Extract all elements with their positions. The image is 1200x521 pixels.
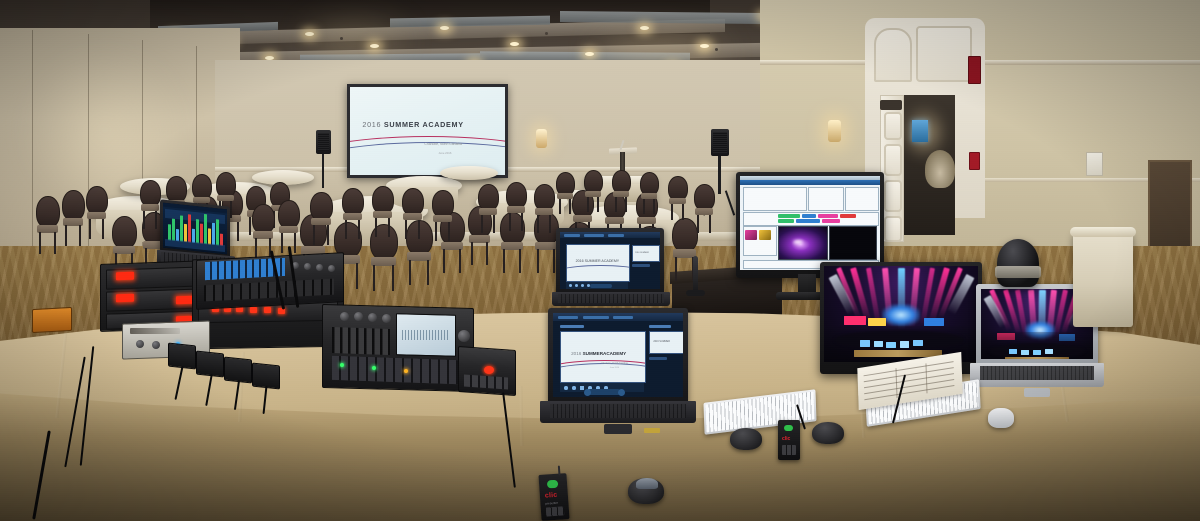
door-leaf-panel-1 [884, 112, 902, 140]
door-transom-panel-left [874, 28, 912, 82]
pp-side-label-2 [649, 357, 667, 360]
chair [478, 184, 499, 211]
chair [506, 182, 527, 209]
mixer-knob[interactable] [304, 263, 311, 270]
pp-menu-chip[interactable] [583, 316, 609, 320]
linen-laundry-bin [1073, 231, 1133, 327]
laptop-audio-screen[interactable] [163, 203, 227, 255]
ve-clip-magenta[interactable] [818, 214, 838, 218]
recorder-status-led [372, 366, 376, 370]
pa-speaker-right [711, 129, 729, 156]
laptop-presentation-front-lid: 2016 SUMMERACADEMY Charlotte, North Caro… [548, 308, 688, 404]
macbook-keyboard[interactable] [980, 366, 1094, 380]
chair [278, 200, 300, 229]
pp-library-label [560, 325, 584, 328]
ve-thumbnail-magenta[interactable] [745, 230, 757, 240]
presentation-software-ui-front: 2016 SUMMERACADEMY Charlotte, North Caro… [553, 313, 683, 397]
lobby-display-screen [912, 120, 928, 142]
wireless-led [264, 307, 271, 313]
recorder-knob[interactable] [368, 313, 377, 322]
downlight-3 [305, 32, 314, 36]
ve-clip-magenta-2[interactable] [822, 219, 840, 223]
wireless-led [250, 307, 257, 313]
clicker-front-sublabel: presenter [545, 501, 558, 506]
slide-title: 2016 SUMMER ACADEMY [362, 120, 463, 129]
laptop-presentation-front-keyboard[interactable] [550, 404, 686, 418]
mixer-knob[interactable] [316, 264, 323, 271]
paper-column-divider [895, 368, 897, 398]
chair [556, 172, 575, 196]
pp-menu-chip[interactable] [584, 234, 604, 237]
foh-screen [874, 341, 883, 347]
pp-tool-icon-square[interactable] [580, 386, 584, 390]
table-round-8 [440, 166, 498, 180]
foh-screen [1033, 350, 1041, 355]
slide-title-year: 2016 [362, 120, 381, 129]
meter-strip [204, 214, 207, 244]
fire-alarm-strobe [969, 152, 980, 170]
di-box-brand-text [130, 328, 180, 334]
ve-clip-green[interactable] [778, 214, 800, 218]
clicker-desk-keypad[interactable] [782, 445, 796, 455]
downlight-9 [700, 44, 709, 48]
downlight-5 [440, 26, 449, 30]
clicker-front-keypad[interactable] [546, 506, 565, 516]
photo-scene: 2016 SUMMER ACADEMY Charlotte, North Car… [0, 0, 1200, 521]
mouse-apple-magic[interactable] [988, 408, 1014, 428]
foh-screen [886, 342, 896, 348]
chair [112, 216, 137, 249]
downlight-6 [510, 42, 519, 46]
laptop-presentation-rear[interactable]: 2016 SUMMER ACADEMY 2016 SUMMER [556, 228, 664, 310]
front-projection-screen: 2016 SUMMER ACADEMY Charlotte, North Car… [347, 84, 508, 178]
ceiling-light-glow-1 [310, 28, 400, 54]
chair [62, 190, 85, 221]
light-stand-base-wrapped [997, 239, 1039, 287]
pp-slide-thumbnail-rear[interactable]: 2016 SUMMER [632, 245, 660, 262]
pp-slide-thumbnail-front[interactable]: 2016 SUMMER [649, 331, 683, 354]
chair [252, 204, 275, 234]
slide-swoosh-top-blue [350, 87, 505, 108]
clicker-desk[interactable]: clic [778, 420, 800, 460]
foh-desk-glow [1005, 357, 1069, 359]
laptop-presentation-rear-base [552, 292, 670, 306]
slide-subtitle: Charlotte, North Carolina [424, 142, 462, 146]
slide-date: June 2016 [438, 151, 451, 155]
sprinkler-3 [545, 32, 548, 35]
pp-side-label [632, 264, 650, 267]
pp-menu-chip[interactable] [564, 234, 580, 237]
meter-strip [216, 219, 219, 245]
clicker-desk-button-green[interactable] [784, 425, 793, 431]
chair [694, 184, 715, 211]
ve-preview-program[interactable] [829, 226, 877, 260]
chair [640, 172, 659, 196]
speaker-tripod-right-column [718, 156, 721, 194]
recorder-knob[interactable] [354, 312, 363, 321]
pp-side-header [649, 325, 671, 328]
ve-thumbnail-amber[interactable] [759, 230, 771, 240]
laptop-presentation-rear-keyboard[interactable] [558, 294, 664, 303]
pp-tool-icon[interactable] [569, 284, 572, 287]
slide-title-rest: SUMMER ACADEMY [384, 120, 464, 129]
recorder-status-led [340, 363, 344, 367]
meter-strip [208, 228, 211, 244]
recorder-status-led [404, 369, 408, 373]
laptop-presentation-front-sticker [644, 428, 660, 433]
ve-effects-panel[interactable] [845, 187, 879, 211]
foh-screen [1045, 349, 1053, 354]
pp-menu-chip[interactable] [558, 316, 578, 320]
foh-screen [1009, 349, 1017, 354]
foh-screen [913, 340, 923, 346]
monitor-dell-screen[interactable] [824, 266, 978, 362]
ve-browser-panel[interactable] [743, 187, 807, 211]
mixer-knob[interactable] [328, 265, 335, 272]
clicker-desk-logo: clic [782, 436, 790, 442]
ve-clip-blue-2[interactable] [796, 219, 820, 223]
clicker-front-button-green[interactable] [547, 480, 559, 489]
laptop-audio-lid [160, 199, 230, 258]
desk-microphone [693, 256, 698, 292]
meter-strip [212, 223, 215, 245]
di-box-knob[interactable] [136, 340, 144, 348]
pp-tool-icon-circle[interactable] [572, 386, 576, 390]
foh-screen [900, 341, 909, 348]
desk-microphone-base [686, 290, 705, 296]
meter-strip [168, 224, 171, 240]
audio-mixer-ui [163, 203, 227, 255]
pp-menu-chip[interactable] [613, 316, 633, 320]
chair [402, 188, 424, 216]
chair [534, 184, 555, 211]
meter-strip [172, 218, 175, 240]
recorder-lcd-waveform [402, 330, 448, 340]
paper-column-divider [925, 363, 927, 393]
lobby-flower-arrangement [925, 150, 955, 188]
chair [668, 176, 688, 201]
chair [192, 174, 212, 200]
laptop-presentation-front-base [540, 401, 696, 423]
chair [216, 172, 236, 198]
foh-screen [1021, 350, 1029, 355]
ve-clip-green-2[interactable] [778, 219, 794, 223]
mouse-black-left[interactable] [730, 428, 762, 450]
pp-menu-chip[interactable] [608, 234, 624, 237]
speaker-tripod-left-column [322, 154, 324, 188]
chair [372, 186, 394, 214]
meter-strip [184, 224, 187, 242]
door-leaf-panel-2 [884, 144, 902, 176]
foh-screen [860, 340, 870, 347]
bin-rim [1070, 227, 1136, 237]
laptop-presentation-rear-lid: 2016 SUMMER ACADEMY 2016 SUMMER [556, 228, 664, 294]
chair [166, 176, 187, 203]
ve-preview-source[interactable] [778, 226, 828, 260]
presentation-software-ui-rear: 2016 SUMMER ACADEMY 2016 SUMMER [560, 232, 660, 289]
orange-power-supply [32, 307, 72, 333]
ve-inspector-panel[interactable] [808, 187, 844, 211]
mouse-black-right[interactable] [812, 422, 844, 444]
downlight-4 [370, 44, 379, 48]
door-leaf-panel-4 [884, 216, 902, 242]
chair [140, 180, 161, 207]
di-box-knob[interactable] [152, 341, 160, 349]
video-editor-ui [740, 176, 880, 270]
sprinkler-2 [340, 37, 343, 40]
wall-control-plate[interactable] [1086, 152, 1103, 176]
pp-tool-icon[interactable] [575, 284, 578, 287]
laptop-presentation-rear-screen[interactable]: 2016 SUMMER ACADEMY 2016 SUMMER [560, 232, 660, 289]
downlight-8 [640, 26, 649, 30]
ve-clip-red[interactable] [840, 214, 856, 218]
meter-strip [200, 223, 203, 243]
speaker-grill-right [713, 132, 727, 153]
recorder-knob[interactable] [382, 314, 391, 323]
chair [36, 196, 60, 228]
downlight-7 [585, 52, 594, 56]
meter-strip [188, 214, 191, 242]
pp-tool-icon[interactable] [581, 284, 584, 287]
clicker-front-edge[interactable]: clic presenter [538, 473, 569, 521]
chair [342, 188, 364, 216]
laptop-presentation-front-screen[interactable]: 2016 SUMMERACADEMY Charlotte, North Caro… [553, 313, 683, 397]
pp-live-preview-rear[interactable]: 2016 SUMMER ACADEMY [566, 244, 630, 282]
laptop-presentation-front-trackpad[interactable] [604, 424, 632, 434]
wall-sconce-left [536, 129, 547, 148]
macbook-trackpad[interactable] [1024, 388, 1050, 397]
macbook-base [970, 363, 1104, 387]
chair [584, 170, 603, 194]
chair [612, 170, 631, 194]
arena-program-image-dell [824, 266, 978, 362]
chair [432, 190, 454, 218]
meter-strip [196, 219, 199, 243]
recorder-fader-bank[interactable] [332, 327, 390, 355]
pp-tool-icon-pen[interactable] [564, 386, 568, 390]
control-panel-led [484, 366, 494, 374]
monitor-video-editor-screen[interactable] [740, 176, 880, 270]
door-transom-panel-right [916, 26, 972, 82]
fire-alarm-pull-station[interactable] [968, 56, 981, 84]
speaker-grill-left [318, 133, 329, 151]
recorder-button-pad[interactable] [332, 356, 460, 384]
led-wall-panel [844, 316, 866, 325]
rack-amp-led-display-2 [116, 294, 134, 303]
chair [86, 186, 108, 215]
door-leaf-panel-3 [884, 180, 902, 212]
ve-menubar[interactable] [740, 180, 880, 185]
sprinkler-4 [715, 48, 718, 51]
chair [310, 192, 333, 221]
pa-speaker-left [316, 130, 331, 154]
pp-live-preview-front[interactable]: 2016 SUMMERACADEMY Charlotte, North Caro… [560, 331, 646, 383]
wall-sconce-right [828, 120, 841, 142]
projection-slide: 2016 SUMMER ACADEMY Charlotte, North Car… [350, 87, 505, 175]
recorder-jog-wheel[interactable] [458, 330, 470, 342]
ve-clip-blue[interactable] [802, 214, 816, 218]
mouse-front-edge-highlight [636, 478, 658, 489]
recorder-knob[interactable] [340, 312, 349, 321]
stand-base-cable-wrap [995, 266, 1041, 278]
clicker-front-logo: clic [545, 492, 558, 500]
ceiling-vent-3 [560, 11, 760, 24]
chair [672, 218, 698, 252]
door-closer-hardware [880, 100, 902, 110]
rack-amp-led-display-1 [116, 272, 134, 281]
laptop-presentation-front[interactable]: 2016 SUMMERACADEMY Charlotte, North Caro… [548, 308, 688, 450]
meter-strip [180, 215, 183, 241]
